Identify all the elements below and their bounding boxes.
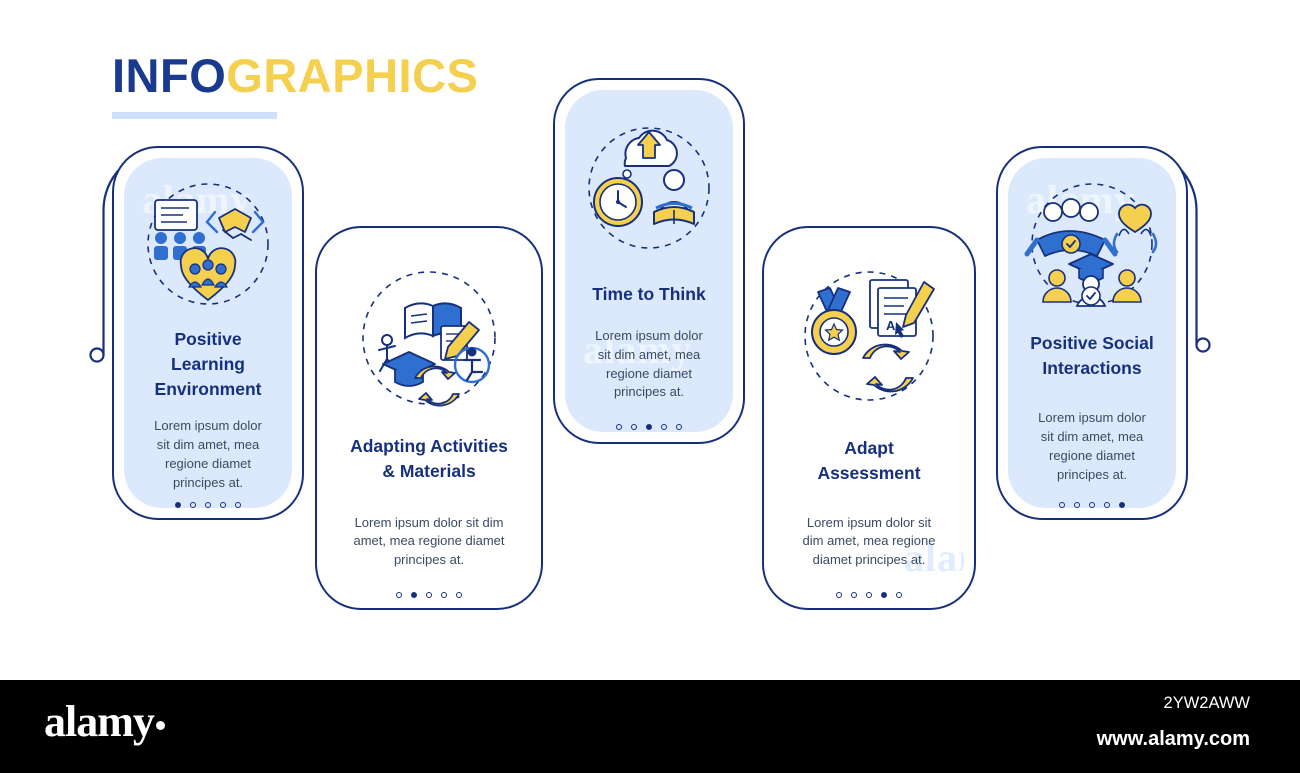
step-dot[interactable] [456, 592, 462, 598]
step-dot[interactable] [235, 502, 241, 508]
alamy-logo-dot [156, 721, 165, 730]
card-inner: Adapting Activities & Materials Lorem ip… [327, 238, 531, 598]
page-title: INFOGRAPHICS [112, 52, 478, 119]
step-dot[interactable] [661, 424, 667, 430]
card-title: Positive Social Interactions [1014, 331, 1170, 381]
infographic-canvas: INFOGRAPHICS alamy [0, 0, 1300, 680]
step-dot[interactable] [676, 424, 682, 430]
alamy-logo: alamy [44, 696, 165, 747]
stock-footer-bar: alamy 2YW2AWW www.alamy.com [0, 680, 1300, 773]
icon-people-heart-graduate [1008, 172, 1176, 322]
svg-text:A: A [886, 318, 896, 333]
card-title: Adapting Activities & Materials [334, 434, 524, 484]
step-dot[interactable] [441, 592, 447, 598]
step-dot[interactable] [616, 424, 622, 430]
step-dot[interactable] [1119, 502, 1125, 508]
footer-url: www.alamy.com [1097, 728, 1250, 751]
step-dot[interactable] [896, 592, 902, 598]
card-inner: alamy [565, 90, 733, 432]
card-title: Time to Think [576, 282, 721, 307]
step-dot[interactable] [175, 502, 181, 508]
step-dot[interactable] [220, 502, 226, 508]
step-dot[interactable] [646, 424, 652, 430]
title-underline [112, 112, 277, 119]
step-dot[interactable] [881, 592, 887, 598]
step-dots[interactable] [616, 424, 682, 430]
step-dot[interactable] [866, 592, 872, 598]
card-inner: alamy A [774, 238, 964, 598]
step-dots[interactable] [175, 502, 241, 508]
card-description: Lorem ipsum dolor sit dim amet, mea regi… [1008, 409, 1176, 484]
icon-medal-document-refresh: A [774, 260, 964, 418]
card-inner: alamy [1008, 158, 1176, 508]
alamy-logo-text: alamy [44, 697, 154, 746]
step-dot[interactable] [1089, 502, 1095, 508]
step-dot[interactable] [396, 592, 402, 598]
step-dot[interactable] [411, 592, 417, 598]
card-title: Adapt Assessment [801, 436, 936, 486]
step-dot[interactable] [426, 592, 432, 598]
step-dot[interactable] [1074, 502, 1080, 508]
step-dot[interactable] [190, 502, 196, 508]
card-time-to-think[interactable]: alamy [553, 78, 745, 444]
step-dots[interactable] [396, 592, 462, 598]
step-dot[interactable] [836, 592, 842, 598]
card-description: Lorem ipsum dolor sit dim amet, mea regi… [124, 417, 292, 492]
card-inner: alamy [124, 158, 292, 508]
step-dot[interactable] [851, 592, 857, 598]
icon-book-graduation-accessibility [329, 260, 529, 420]
title-part-graphics: GRAPHICS [226, 49, 478, 102]
card-adapting-activities-materials[interactable]: Adapting Activities & Materials Lorem ip… [315, 226, 543, 610]
card-description: Lorem ipsum dolor sit dim amet, mea regi… [327, 514, 531, 571]
icon-clock-thought-reader [565, 114, 733, 264]
card-positive-learning-environment[interactable]: alamy [112, 146, 304, 520]
icon-classroom-handshake-heart [124, 172, 292, 322]
image-id: 2YW2AWW [1164, 694, 1250, 713]
step-dots[interactable] [1059, 502, 1125, 508]
step-dot[interactable] [1059, 502, 1065, 508]
card-positive-social-interactions[interactable]: alamy [996, 146, 1188, 520]
card-description: Lorem ipsum dolor sit dim amet, mea regi… [565, 327, 733, 402]
card-title: Positive Learning Environment [124, 327, 292, 402]
title-part-info: INFO [112, 49, 226, 102]
card-description: Lorem ipsum dolor sit dim amet, mea regi… [774, 514, 964, 571]
card-adapt-assessment[interactable]: alamy A [762, 226, 976, 610]
step-dot[interactable] [205, 502, 211, 508]
step-dot[interactable] [1104, 502, 1110, 508]
step-dots[interactable] [836, 592, 902, 598]
step-dot[interactable] [631, 424, 637, 430]
